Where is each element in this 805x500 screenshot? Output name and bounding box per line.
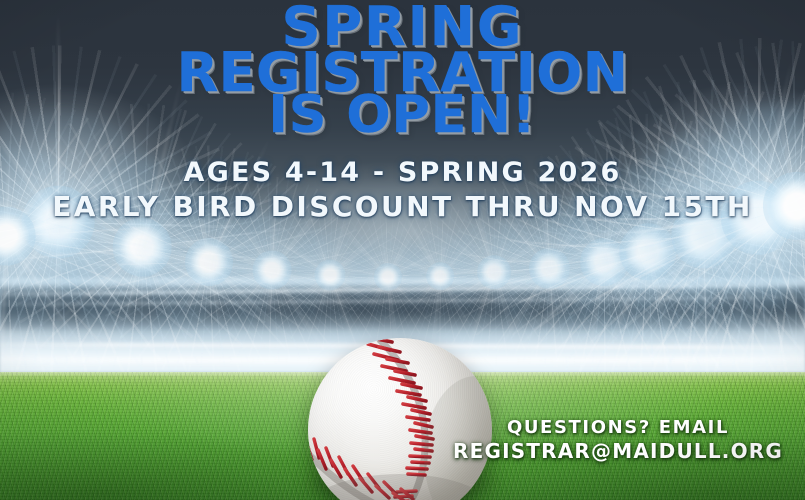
subheading-early-bird: EARLY BIRD DISCOUNT THRU NOV 15TH [0,190,805,223]
headline-line-3: IS OPEN! [0,92,805,140]
contact-block: QUESTIONS? EMAIL REGISTRAR@MAIDULL.ORG [453,417,783,465]
contact-email[interactable]: REGISTRAR@MAIDULL.ORG [453,439,783,464]
baseball-registration-poster: SPRING REGISTRATION IS OPEN! AGES 4-14 -… [0,0,805,500]
subheading-ages-season: AGES 4-14 - SPRING 2026 [0,157,805,188]
headline-block: SPRING REGISTRATION IS OPEN! [0,0,805,140]
stadium-stands-shadow [0,288,805,332]
contact-prompt: QUESTIONS? EMAIL [453,417,783,440]
